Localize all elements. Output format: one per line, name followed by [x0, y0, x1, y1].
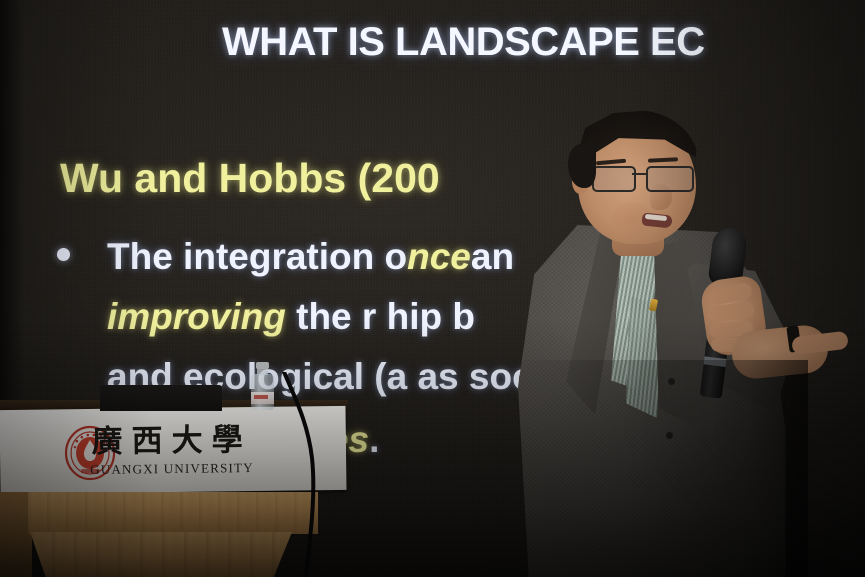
- slide-title: WHAT IS LANDSCAPE EC: [222, 20, 705, 65]
- laptop-lid: [100, 385, 222, 411]
- eyeglass-lens: [592, 166, 636, 192]
- slide-emphasis-segment: nce: [407, 236, 471, 277]
- banner-chinese-name: 廣西大學: [91, 425, 251, 458]
- water-bottle: [249, 362, 275, 410]
- eyeglass-bridge: [632, 173, 647, 175]
- slide-text-segment: The integration o: [107, 236, 407, 277]
- lectern: 廣西大學 GUANGXI UNIVERSITY: [0, 400, 354, 577]
- slide-text-segment: .: [369, 419, 379, 460]
- presenter-pointing-arm: [730, 306, 848, 398]
- lectern-front-upper: [28, 492, 318, 534]
- slide-text-segment: hip b: [387, 296, 475, 337]
- eyeglasses-icon: [592, 166, 696, 190]
- presenter: [508, 110, 865, 577]
- presentation-photo: WHAT IS LANDSCAPE EC Wu and Hobbs (200 T…: [0, 0, 865, 577]
- bottle-label-mark: [254, 395, 268, 399]
- bottle-cap: [256, 362, 269, 369]
- banner-english-name: GUANGXI UNIVERSITY: [90, 461, 254, 476]
- lectern-front-lower: [30, 532, 292, 577]
- slide-body-line-1: The integration oncean: [107, 236, 514, 278]
- lectern-banner: 廣西大學 GUANGXI UNIVERSITY: [0, 406, 347, 494]
- eyeglass-lens: [646, 166, 694, 192]
- slide-body-line-2: improving the r hip b: [107, 296, 475, 338]
- jacket-button: [666, 432, 673, 439]
- slide-citation: Wu and Hobbs (200: [60, 155, 440, 202]
- slide-text-segment: the r: [296, 296, 376, 337]
- bullet-point-icon: [57, 248, 70, 261]
- slide-emphasis-segment: improving: [107, 296, 286, 337]
- presenter-hair-side: [568, 144, 596, 188]
- jacket-button: [668, 378, 675, 385]
- bottle-neck: [257, 368, 268, 375]
